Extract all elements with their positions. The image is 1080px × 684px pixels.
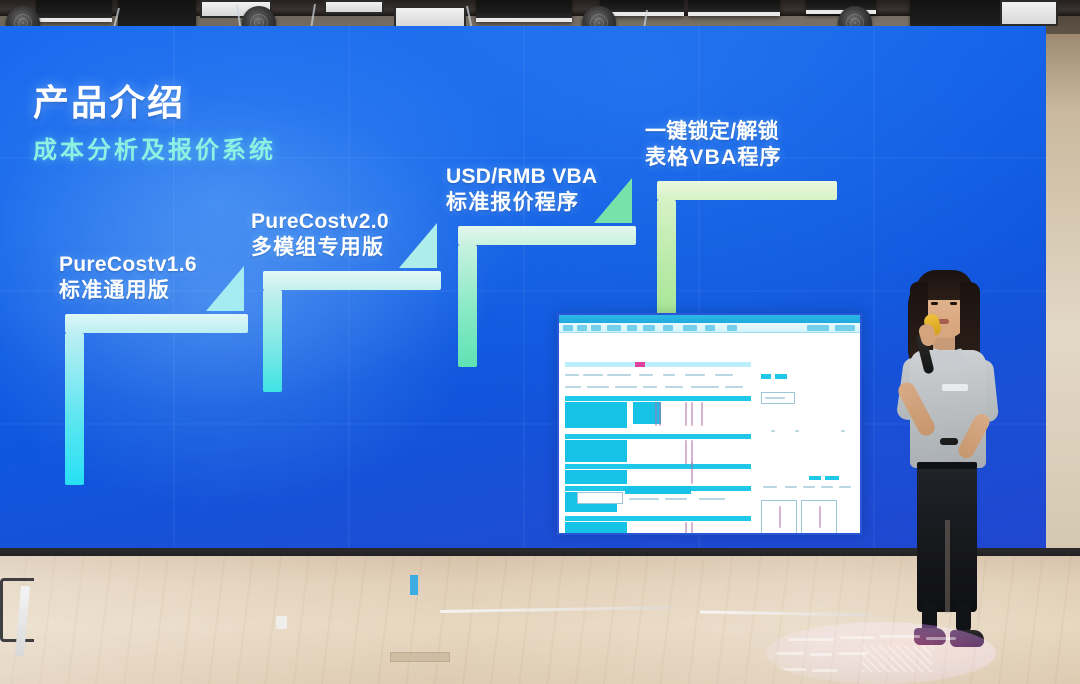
spreadsheet-titlebar (559, 315, 860, 323)
room-wall-right-edge (1040, 0, 1080, 600)
photo-scene: 产品介绍 成本分析及报价系统 PureCostv1.6 标准通用版 PureCo… (0, 0, 1080, 684)
waistband (917, 462, 977, 469)
step-label-line2: 多模组专用版 (251, 235, 389, 261)
step-label-line2: 标准报价程序 (446, 190, 597, 216)
step-bar-horizontal (458, 226, 636, 245)
presentation-clicker (940, 438, 958, 445)
step-arrow-icon (399, 223, 437, 268)
spreadsheet-ribbon (559, 323, 860, 333)
step-label-line1: USD/RMB VBA (446, 164, 597, 190)
stage-light-panel (1000, 0, 1058, 26)
step-bar-vertical (263, 290, 282, 392)
step-label-line1: 一键锁定/解锁 (645, 119, 782, 145)
ankle-right (956, 602, 971, 632)
step-arrow-icon (594, 178, 632, 223)
step-label-line1: PureCostv2.0 (251, 209, 389, 235)
stage-light-fixture (476, 0, 572, 22)
spreadsheet-grid (559, 334, 860, 533)
step-bar-vertical (657, 200, 676, 320)
stage-light-fixture (36, 0, 112, 22)
floor-marker (410, 575, 418, 595)
spreadsheet-screenshot (557, 313, 862, 535)
stage-light-panel (394, 6, 466, 28)
step-bar-vertical (65, 333, 84, 485)
presenter (886, 262, 1008, 684)
slide-subtitle: 成本分析及报价系统 (33, 130, 276, 165)
step-label-line2: 表格VBA程序 (645, 145, 782, 171)
step-caption-4: 一键锁定/解锁 表格VBA程序 (645, 119, 782, 170)
step-bar-vertical (458, 245, 477, 367)
step-bar-horizontal (263, 271, 441, 290)
step-caption-1: PureCostv1.6 标准通用版 (59, 252, 197, 303)
leg-gap (945, 520, 950, 614)
floor-watermark-overlay (766, 622, 996, 684)
eye-left-icon (931, 302, 938, 305)
floor-vent (390, 652, 450, 662)
eye-right-icon (950, 302, 957, 305)
step-bar-horizontal (65, 314, 248, 333)
floor-cup (276, 616, 287, 629)
stage-light-fixture (688, 0, 780, 16)
step-caption-3: USD/RMB VBA 标准报价程序 (446, 164, 597, 215)
shirt-logo (942, 384, 968, 391)
slide-title: 产品介绍 (33, 74, 185, 126)
step-arrow-icon (206, 266, 244, 311)
stage-light-panel (324, 0, 384, 14)
step-label-line1: PureCostv1.6 (59, 252, 197, 278)
step-label-line2: 标准通用版 (59, 278, 197, 304)
step-bar-horizontal (657, 181, 837, 200)
step-caption-2: PureCostv2.0 多模组专用版 (251, 209, 389, 260)
